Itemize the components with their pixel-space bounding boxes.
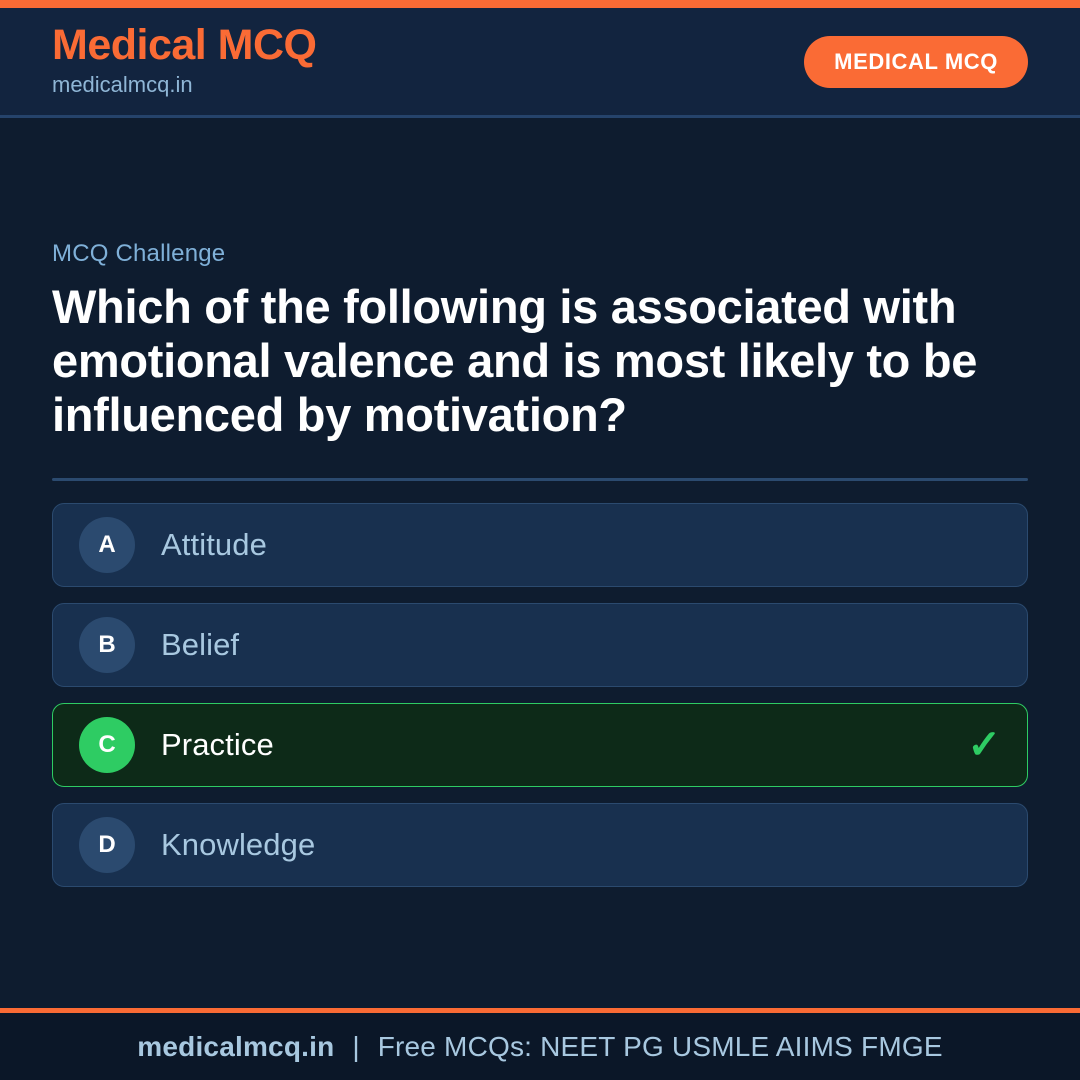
mcq-card: Medical MCQ medicalmcq.in MEDICAL MCQ MC… <box>0 0 1080 1080</box>
footer-site: medicalmcq.in <box>137 1031 334 1063</box>
header-badge: MEDICAL MCQ <box>804 36 1028 88</box>
page-header: Medical MCQ medicalmcq.in MEDICAL MCQ <box>0 8 1080 118</box>
brand-title: Medical MCQ <box>52 24 317 68</box>
option-letter-badge: A <box>79 517 135 573</box>
footer-separator: | <box>334 1031 377 1063</box>
section-divider <box>52 478 1028 481</box>
page-footer: medicalmcq.in | Free MCQs: NEET PG USMLE… <box>0 1008 1080 1080</box>
question-area: MCQ Challenge Which of the following is … <box>0 118 1080 1008</box>
top-accent-bar <box>0 0 1080 8</box>
brand-block: Medical MCQ medicalmcq.in <box>52 24 317 99</box>
option-label: Knowledge <box>161 827 315 863</box>
option-a[interactable]: A Attitude ✓ <box>52 503 1028 587</box>
footer-exams: Free MCQs: NEET PG USMLE AIIMS FMGE <box>378 1031 943 1063</box>
options-list: A Attitude ✓ B Belief ✓ C Practice ✓ D K… <box>52 503 1028 887</box>
option-b[interactable]: B Belief ✓ <box>52 603 1028 687</box>
eyebrow-label: MCQ Challenge <box>52 240 1028 268</box>
option-letter-badge: D <box>79 817 135 873</box>
option-letter-badge: C <box>79 717 135 773</box>
option-c[interactable]: C Practice ✓ <box>52 703 1028 787</box>
option-letter-badge: B <box>79 617 135 673</box>
option-d[interactable]: D Knowledge ✓ <box>52 803 1028 887</box>
option-label: Belief <box>161 627 239 663</box>
option-label: Practice <box>161 727 274 763</box>
option-label: Attitude <box>161 527 267 563</box>
brand-subtitle: medicalmcq.in <box>52 71 317 100</box>
check-icon: ✓ <box>967 725 1001 765</box>
question-text: Which of the following is associated wit… <box>52 280 1002 442</box>
